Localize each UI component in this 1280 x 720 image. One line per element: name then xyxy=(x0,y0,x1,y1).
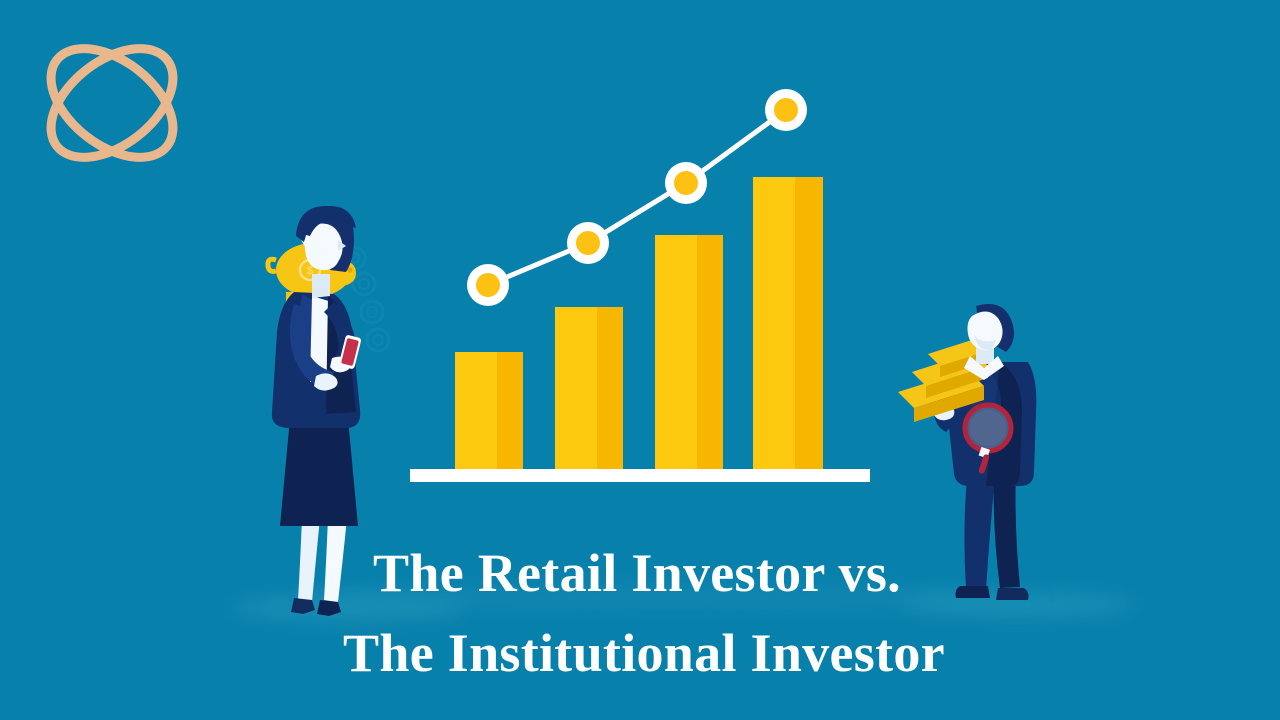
marker-3-core xyxy=(674,171,698,195)
woman-neck xyxy=(312,274,330,298)
institutional-investor-man xyxy=(890,300,1100,630)
logo-ellipse-b xyxy=(32,27,192,179)
woman-shoe-front xyxy=(317,600,341,616)
chart-baseline xyxy=(410,469,870,482)
chart-marker-2[interactable] xyxy=(567,222,609,264)
retail-investor-woman xyxy=(250,200,430,630)
woman-leg-front xyxy=(324,518,347,602)
man-shoe-front xyxy=(996,588,1029,600)
marker-4-core xyxy=(774,98,798,122)
chart-marker-4[interactable] xyxy=(765,89,807,131)
brand-logo[interactable] xyxy=(32,18,192,188)
chart-marker-3[interactable] xyxy=(665,162,707,204)
marker-1-core xyxy=(476,273,500,297)
chart-marker-1[interactable] xyxy=(467,264,509,306)
woman-skirt xyxy=(280,418,358,526)
marker-2-core xyxy=(576,231,600,255)
woman-shoe-back xyxy=(291,598,315,614)
man-shoe-back xyxy=(956,586,991,598)
woman-leg-back xyxy=(298,518,320,602)
slide-canvas: $ $ xyxy=(0,0,1280,720)
growth-bar-chart xyxy=(400,80,890,470)
